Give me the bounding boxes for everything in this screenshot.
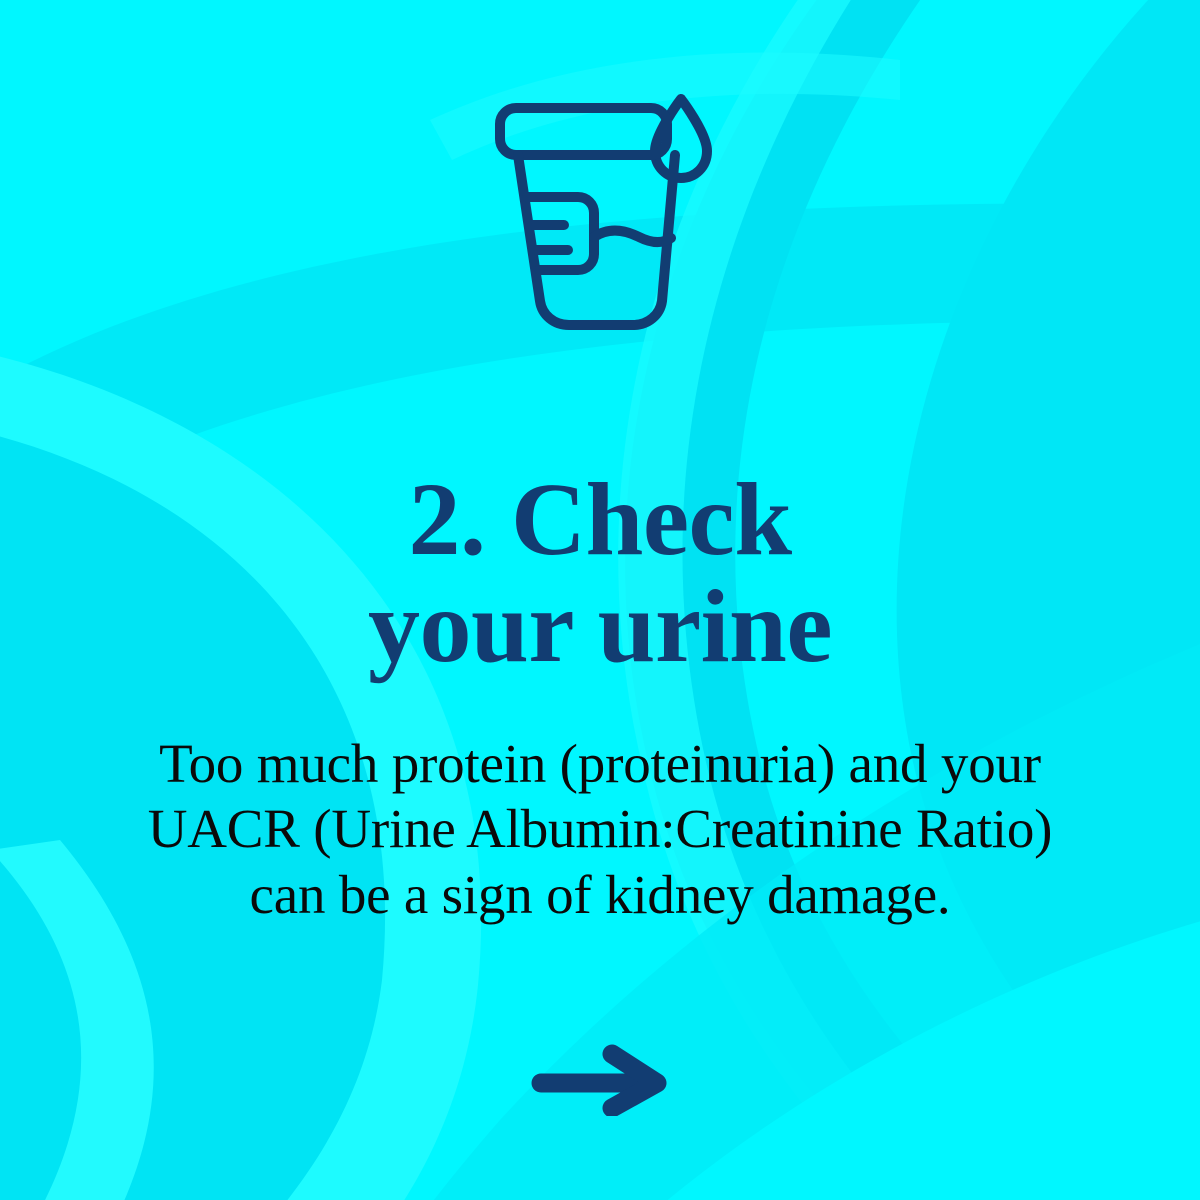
body-line-2: UACR (Urine Albumin:Creatinine Ratio) [0, 796, 1200, 861]
body-line-3: can be a sign of kidney damage. [0, 862, 1200, 927]
cup-lid [500, 108, 667, 155]
body-line-1: Too much protein (proteinuria) and your [0, 731, 1200, 796]
urine-sample-cup-icon [0, 86, 1200, 336]
body-text: Too much protein (proteinuria) and your … [0, 731, 1200, 927]
urine-sample-cup-glyph [485, 86, 715, 336]
liquid-surface-line [594, 231, 671, 242]
title-line-2: your urine [0, 573, 1200, 680]
slide-canvas: 2. Check your urine Too much protein (pr… [0, 0, 1200, 1200]
page-title: 2. Check your urine [0, 466, 1200, 680]
next-arrow-button[interactable] [529, 1044, 671, 1116]
next-arrow-icon[interactable] [529, 1044, 671, 1116]
title-line-1: 2. Check [0, 466, 1200, 573]
